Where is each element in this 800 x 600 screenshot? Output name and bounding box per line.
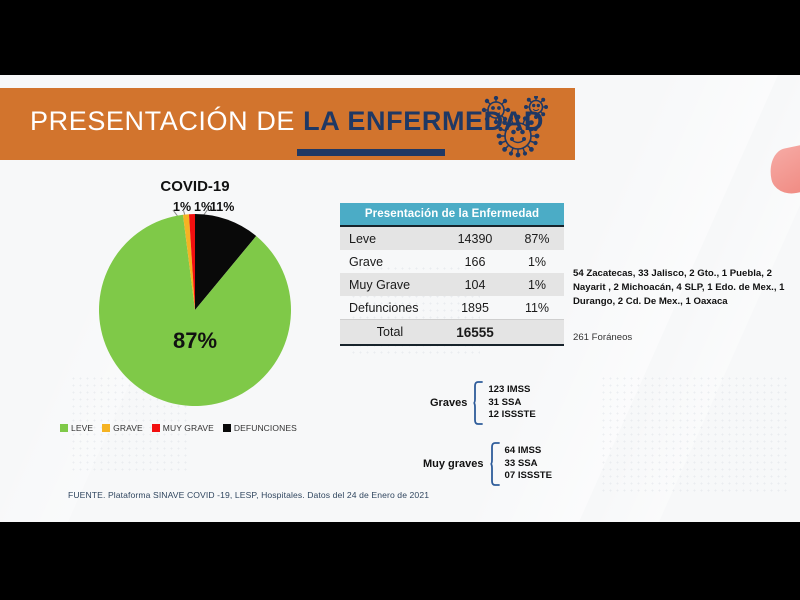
source-footer: FUENTE. Plataforma SINAVE COVID -19, LES… — [68, 490, 429, 500]
group-graves-label: Graves — [430, 397, 467, 409]
legend-label: LEVE — [71, 423, 93, 433]
total-percent — [510, 320, 564, 345]
row-label: Muy Grave — [340, 273, 440, 296]
group-muy-graves: Muy graves 64 IMSS 33 SSA 07 ISSSTE — [423, 442, 552, 486]
legend-item-grave: GRAVE — [102, 423, 143, 433]
table-header-title: Presentación de la Enfermedad — [340, 203, 564, 226]
table-row: Grave1661% — [340, 250, 564, 273]
row-count: 166 — [440, 250, 510, 273]
presentation-table-block: Presentación de la Enfermedad Leve143908… — [340, 203, 564, 346]
page-title: PRESENTACIÓN DE LA ENFERMEDAD — [30, 106, 544, 137]
pie-label-leve: 87% — [95, 328, 295, 354]
row-count: 104 — [440, 273, 510, 296]
group-muy-graves-items: 64 IMSS 33 SSA 07 ISSSTE — [505, 445, 552, 483]
pie-chart: 87% — [95, 210, 295, 410]
header-banner: PRESENTACIÓN DE LA ENFERMEDAD — [0, 88, 575, 160]
presentation-table: Presentación de la Enfermedad Leve143908… — [340, 203, 564, 344]
table-row: Leve1439087% — [340, 226, 564, 250]
brace-icon — [490, 442, 500, 486]
chart-legend: LEVEGRAVEMUY GRAVEDEFUNCIONES — [60, 423, 335, 433]
legend-swatch — [60, 424, 68, 432]
title-underline — [297, 149, 445, 156]
table-total-row: Total16555 — [340, 320, 564, 345]
legend-swatch — [223, 424, 231, 432]
table-row: Defunciones189511% — [340, 296, 564, 320]
pie-svg — [95, 210, 295, 410]
group-graves-items: 123 IMSS 31 SSA 12 ISSSTE — [488, 384, 535, 422]
pie-slices — [99, 214, 291, 406]
legend-swatch — [102, 424, 110, 432]
chart-title: COVID-19 — [55, 178, 335, 195]
slide-viewer: PRESENTACIÓN DE LA ENFERMEDAD — [0, 0, 800, 600]
table-bottom-rule — [340, 344, 564, 346]
legend-item-defunciones: DEFUNCIONES — [223, 423, 297, 433]
group-muy-graves-item: 33 SSA — [505, 458, 552, 471]
row-percent: 87% — [510, 226, 564, 250]
page-title-light: PRESENTACIÓN DE — [30, 106, 303, 136]
group-graves-item: 12 ISSSTE — [488, 409, 535, 422]
total-label: Total — [340, 320, 440, 345]
legend-label: DEFUNCIONES — [234, 423, 297, 433]
row-percent: 1% — [510, 273, 564, 296]
pie-chart-block: COVID-19 1% 1% 11% 87% LEVEGRA — [55, 178, 335, 478]
legend-label: GRAVE — [113, 423, 143, 433]
row-count: 1895 — [440, 296, 510, 320]
virus-icon — [478, 96, 558, 158]
group-graves-item: 123 IMSS — [488, 384, 535, 397]
slide-canvas: PRESENTACIÓN DE LA ENFERMEDAD — [0, 75, 800, 522]
legend-item-muy-grave: MUY GRAVE — [152, 423, 214, 433]
group-graves-item: 31 SSA — [488, 397, 535, 410]
table-header-row: Presentación de la Enfermedad — [340, 203, 564, 226]
states-breakdown-note: 54 Zacatecas, 33 Jalisco, 2 Gto., 1 Pueb… — [573, 267, 795, 309]
row-percent: 1% — [510, 250, 564, 273]
decorative-dots — [600, 375, 790, 495]
table-body: Leve1439087%Grave1661%Muy Grave1041%Defu… — [340, 226, 564, 344]
foraneos-count: 261 Foráneos — [573, 332, 632, 343]
group-graves: Graves 123 IMSS 31 SSA 12 ISSSTE — [430, 381, 536, 425]
group-muy-graves-label: Muy graves — [423, 458, 484, 470]
legend-label: MUY GRAVE — [163, 423, 214, 433]
decorative-pink-shape — [766, 143, 800, 198]
legend-item-leve: LEVE — [60, 423, 93, 433]
row-label: Grave — [340, 250, 440, 273]
row-count: 14390 — [440, 226, 510, 250]
table-row: Muy Grave1041% — [340, 273, 564, 296]
legend-swatch — [152, 424, 160, 432]
row-label: Leve — [340, 226, 440, 250]
row-label: Defunciones — [340, 296, 440, 320]
group-muy-graves-item: 07 ISSSTE — [505, 470, 552, 483]
row-percent: 11% — [510, 296, 564, 320]
group-muy-graves-item: 64 IMSS — [505, 445, 552, 458]
brace-icon — [473, 381, 483, 425]
total-count: 16555 — [440, 320, 510, 345]
